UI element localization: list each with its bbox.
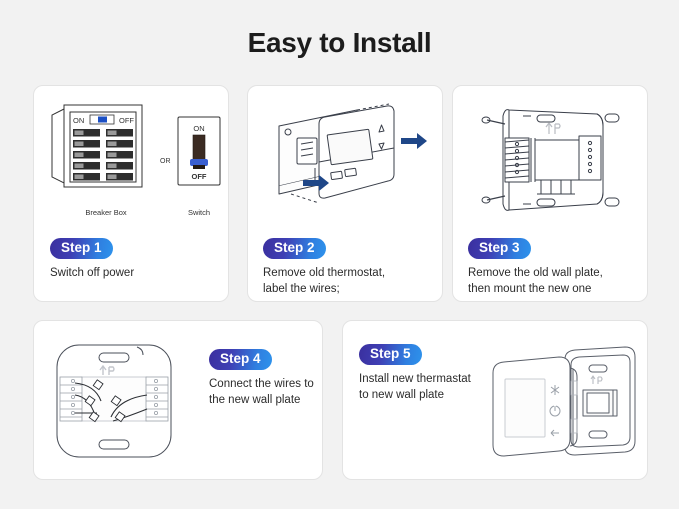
step-2-text: Remove old thermostat, label the wires;: [263, 266, 439, 297]
step-5-text: Install new thermastat to new wall plate: [359, 372, 499, 403]
or-label: OR: [160, 158, 171, 165]
step-card-4: Step 4 Connect the wires to the new wall…: [33, 320, 323, 480]
step-3-caption: Step 3 Remove the old wall plate, then m…: [468, 238, 646, 297]
light-switch-illustration: ON OFF: [176, 115, 222, 187]
step-card-2: Step 2 Remove old thermostat, label the …: [247, 85, 443, 302]
step-1-text: Switch off power: [50, 266, 222, 282]
old-thermostat-removal-illustration: [261, 102, 437, 222]
breaker-indicator: [98, 117, 107, 123]
step-2-badge: Step 2: [263, 238, 326, 259]
step-4-badge: Step 4: [209, 349, 272, 370]
step-3-badge: Step 3: [468, 238, 531, 259]
step-1-badge: Step 1: [50, 238, 113, 259]
switch-off-label: OFF: [192, 172, 207, 181]
page-title: Easy to Install: [0, 27, 679, 59]
step-3-text: Remove the old wall plate, then mount th…: [468, 266, 646, 297]
step-2-caption: Step 2 Remove old thermostat, label the …: [263, 238, 439, 297]
breaker-box-illustration: ON OFF: [50, 101, 160, 196]
install-guide-page: Easy to Install ON OFF: [0, 0, 679, 509]
step-5-caption: Step 5 Install new thermastat to new wal…: [359, 344, 499, 403]
step-card-5: Step 5 Install new thermastat to new wal…: [342, 320, 648, 480]
switch-on-label: ON: [193, 124, 204, 133]
breaker-box-label: Breaker Box: [54, 208, 158, 217]
new-thermostat-and-plate-illustration: [485, 345, 641, 467]
direction-arrow-right: [401, 133, 427, 149]
step-5-badge: Step 5: [359, 344, 422, 365]
step-1-caption: Step 1 Switch off power: [50, 238, 222, 282]
step-card-1: ON OFF: [33, 85, 229, 302]
step-card-3: Step 3 Remove the old wall plate, then m…: [452, 85, 648, 302]
switch-handle: [190, 159, 208, 166]
right-terminal-block: [146, 377, 168, 421]
step-4-text: Connect the wires to the new wall plate: [209, 377, 319, 408]
old-wall-plate-illustration: [479, 100, 629, 222]
step-4-caption: Step 4 Connect the wires to the new wall…: [209, 349, 319, 408]
breaker-off-label: OFF: [119, 116, 134, 125]
new-wall-plate-wiring-illustration: [51, 339, 177, 463]
switch-label: Switch: [173, 208, 225, 217]
breaker-on-label: ON: [73, 116, 84, 125]
